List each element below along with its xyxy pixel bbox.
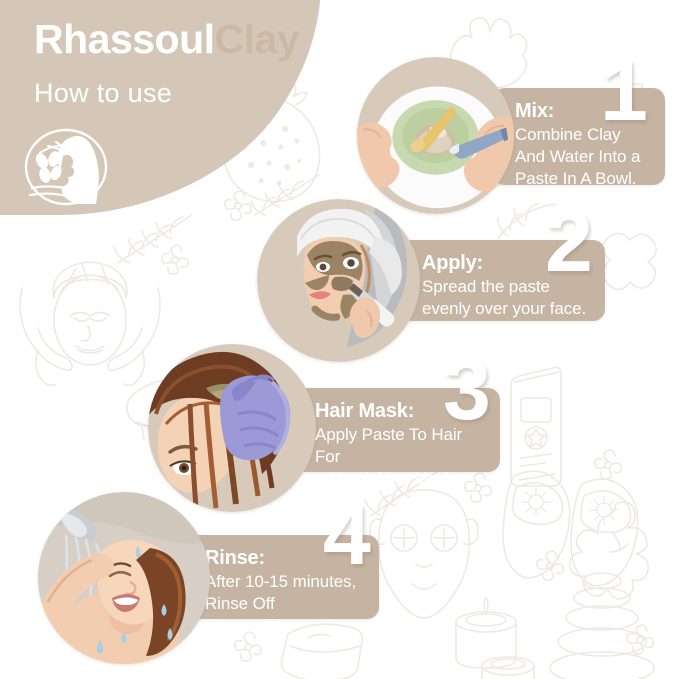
step-4-text-card: Rinse: After 10-15 minutes, Rinse Off Th… <box>183 535 379 619</box>
step-3-image-gloved-hand-applying-hair-mask <box>148 344 316 512</box>
step-1-text-card: Mix: Combine Clay And Water Into a Paste… <box>493 88 665 185</box>
step-1-line-2: And Water Into a <box>515 146 649 168</box>
step-1-line-1: Combine Clay <box>515 124 649 146</box>
step-4-line-1: After 10-15 minutes, <box>205 571 363 593</box>
title-first-word: Rhassoul <box>34 16 215 62</box>
step-1-image-hands-mixing-clay-in-green-bowl <box>357 57 514 214</box>
step-2-line-2: evenly over your face. <box>422 298 589 320</box>
woman-profile-leaf-logo-icon <box>18 126 114 208</box>
step-4-image-woman-rinsing-in-shower <box>38 492 210 664</box>
step-2-title: Apply: <box>422 252 589 274</box>
page-title: RhassoulClay <box>34 16 299 63</box>
step-1-line-3: Paste In A Bowl. <box>515 168 649 190</box>
step-2-line-1: Spread the paste <box>422 276 589 298</box>
step-3-text-card: Hair Mask: Apply Paste To Hair For a Nou… <box>293 388 500 472</box>
infographic-root: RhassoulClay How to use <box>0 0 679 679</box>
step-3-title: Hair Mask: <box>315 400 484 422</box>
step-4-title: Rinse: <box>205 547 363 569</box>
step-2-text-card: Apply: Spread the paste evenly over your… <box>400 240 605 321</box>
title-second-word: Clay <box>215 16 300 62</box>
step-4-line-2: Rinse Off Thoroughly. <box>205 593 363 637</box>
page-subtitle: How to use <box>34 78 172 109</box>
step-1-title: Mix: <box>515 100 649 122</box>
step-2-image-woman-applying-face-mask-with-brush <box>257 199 420 362</box>
step-3-line-1: Apply Paste To Hair For <box>315 424 484 468</box>
step-3-line-2: a Nourishing Mask <box>315 468 484 490</box>
